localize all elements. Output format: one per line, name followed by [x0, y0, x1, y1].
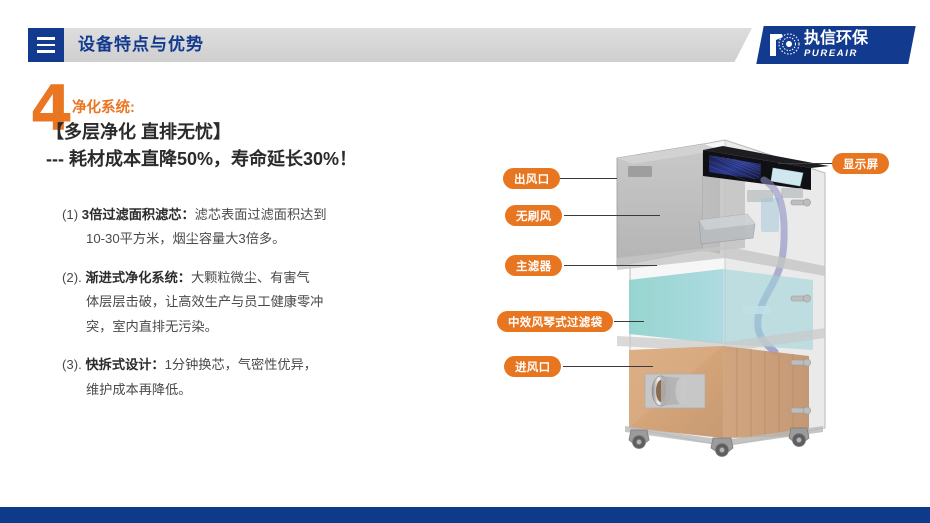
bullet-line-2: 维护成本再降低。 [62, 378, 422, 402]
logo-chinese-name: 执信环保 [804, 31, 868, 47]
air-purifier-illustration [595, 128, 860, 458]
bullet-body: 大颗粒微尘、有害气 [191, 270, 310, 285]
main-filter-media [629, 269, 723, 344]
bullet-index: (3). [62, 357, 82, 372]
list-item: (1) 3倍过滤面积滤芯：滤芯表面过滤面积达到 10-30平方米，烟尘容量大3倍… [62, 203, 422, 252]
callout-inlet: 进风口 [504, 356, 561, 377]
brand-logo: 执信环保 PUREAIR [756, 26, 915, 64]
hamburger-line-2 [37, 44, 55, 47]
callout-outlet: 出风口 [503, 168, 560, 189]
latch-handle [791, 295, 811, 302]
latch-handle [791, 407, 811, 414]
bullet-line-2: 10-30平方米，烟尘容量大3倍多。 [62, 227, 422, 251]
section-subtitle: 净化系统: [72, 96, 135, 117]
pureair-swirl-icon [767, 31, 801, 59]
leader-line-outlet [560, 178, 617, 179]
feature-list: (1) 3倍过滤面积滤芯：滤芯表面过滤面积达到 10-30平方米，烟尘容量大3倍… [62, 203, 422, 416]
page-title: 设备特点与优势 [78, 28, 204, 62]
logo-english-name: PUREAIR [804, 49, 868, 59]
footer-bar [0, 507, 930, 523]
leader-line-brushless-fan [564, 215, 660, 216]
callout-bag-filter: 中效风琴式过滤袋 [497, 311, 613, 332]
list-item: (3). 快拆式设计：1分钟换芯，气密性优异， 维护成本再降低。 [62, 353, 422, 402]
caster-wheel [711, 438, 733, 457]
callout-main-filter: 主滤器 [505, 255, 562, 276]
latch-handle [791, 359, 811, 366]
caster-wheel [629, 430, 649, 449]
caster-wheel [789, 428, 809, 447]
list-item: (2). 渐进式净化系统：大颗粒微尘、有害气 体层层击破，让高效生产与员工健康零… [62, 266, 422, 339]
bullet-term: 渐进式净化系统： [85, 270, 191, 285]
leader-line-main-filter [564, 265, 657, 266]
bullet-line-2: 体层层击破，让高效生产与员工健康零冲 [62, 290, 422, 314]
bullet-index: (1) [62, 207, 78, 222]
bullet-body: 1分钟换芯，气密性优异， [165, 357, 317, 372]
leader-line-bag-filter [614, 321, 644, 322]
headline-line-2: 【多层净化 直排无忧】 [46, 118, 231, 144]
bullet-term: 快拆式设计： [85, 357, 164, 372]
headline-line-3: --- 耗材成本直降50%，寿命延长30%！ [46, 145, 357, 171]
hamburger-menu-icon[interactable] [28, 28, 64, 62]
fan-vent [628, 166, 652, 177]
hamburger-line-3 [37, 50, 55, 53]
bullet-index: (2). [62, 270, 82, 285]
callout-brushless-fan: 无刷风 [505, 205, 562, 226]
bag-filter-section [629, 346, 809, 438]
bullet-body: 滤芯表面过滤面积达到 [195, 207, 327, 222]
bullet-term: 3倍过滤面积滤芯： [82, 207, 195, 222]
bullet-line-3: 突，室内直排无污染。 [62, 315, 422, 339]
leader-line-inlet [563, 366, 653, 367]
hamburger-line-1 [37, 37, 55, 40]
callout-display: 显示屏 [832, 153, 889, 174]
leader-line-display [778, 163, 835, 164]
latch-handle [791, 199, 811, 206]
